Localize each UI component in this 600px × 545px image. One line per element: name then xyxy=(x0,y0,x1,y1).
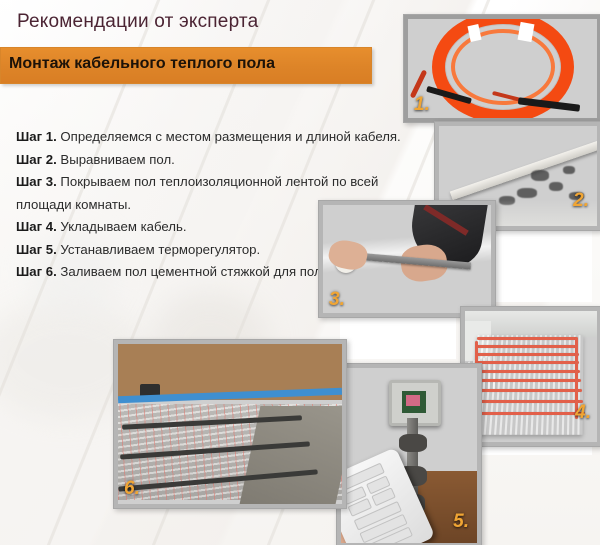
photo-heating-cable[interactable]: 1. xyxy=(403,14,600,123)
banner-title: Монтаж кабельного теплого пола xyxy=(9,55,275,73)
page-title: Рекомендации от эксперта xyxy=(17,11,258,33)
photo-image: 5. xyxy=(341,368,477,543)
photo-number: 5. xyxy=(453,511,469,533)
heating-wire xyxy=(477,337,577,340)
photo-thermostat-install[interactable]: 5. xyxy=(336,363,482,545)
photo-number: 1. xyxy=(414,94,430,116)
photo-image: 6. xyxy=(118,344,342,504)
heating-wire xyxy=(475,370,580,373)
cable-clump xyxy=(399,434,427,452)
list-item: Шаг 2. Выравниваем пол. xyxy=(16,149,428,172)
step-text: Заливаем пол цементной стяжкой для пола. xyxy=(57,264,333,279)
photo-number: 2. xyxy=(573,190,589,212)
heating-wire xyxy=(473,400,583,403)
rubble xyxy=(563,166,575,174)
banner: Монтаж кабельного теплого пола xyxy=(0,47,372,84)
rubble xyxy=(531,170,549,181)
rubble xyxy=(517,188,537,198)
step-label: Шаг 2. xyxy=(16,152,57,167)
photo-foil-insulation[interactable]: 3. xyxy=(318,200,496,318)
heating-wire xyxy=(477,345,577,348)
heating-wire xyxy=(475,379,581,382)
list-item: Шаг 1. Определяемся с местом размещения … xyxy=(16,126,428,149)
photo-image: 3. xyxy=(323,205,491,313)
step-label: Шаг 6. xyxy=(16,264,57,279)
step-text: Укладываем кабель. xyxy=(57,219,187,234)
photo-number: 6. xyxy=(124,478,140,500)
photo-cement-screed[interactable]: 6. xyxy=(113,339,347,509)
step-label: Шаг 1. xyxy=(16,129,57,144)
rubble xyxy=(549,182,563,191)
photo-number: 3. xyxy=(329,289,345,311)
photo-backing-plate xyxy=(340,313,456,359)
thermostat-display xyxy=(406,395,420,406)
coil-gap xyxy=(517,22,534,42)
step-label: Шаг 4. xyxy=(16,219,57,234)
step-label: Шаг 5. xyxy=(16,242,57,257)
heating-wire xyxy=(477,353,579,356)
photo-number: 4. xyxy=(575,402,591,424)
photo-backing-plate xyxy=(486,226,592,302)
step-label: Шаг 3. xyxy=(16,174,57,189)
heating-wire xyxy=(476,361,579,364)
photo-image: 4. xyxy=(465,311,597,442)
infographic-root: Рекомендации от эксперта Монтаж кабельно… xyxy=(0,0,600,545)
heating-wire xyxy=(473,412,585,415)
step-text: Выравниваем пол. xyxy=(57,152,175,167)
heating-wire xyxy=(474,389,582,392)
photo-image: 1. xyxy=(408,19,597,118)
step-text: Устанавливаем терморегулятор. xyxy=(57,242,260,257)
step-text: Определяемся с местом размещения и длино… xyxy=(57,129,401,144)
